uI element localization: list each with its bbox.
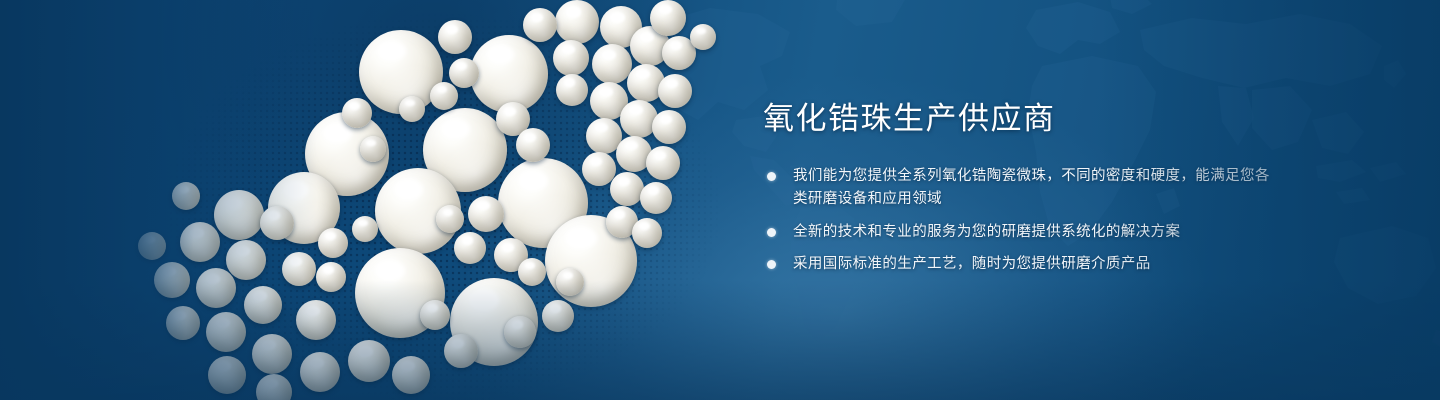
- product-hero-banner: 氧化锆珠生产供应商 我们能为您提供全系列氧化锆陶瓷微珠，不同的密度和硬度，能满足…: [0, 0, 1440, 400]
- edge-vignette: [0, 0, 1440, 400]
